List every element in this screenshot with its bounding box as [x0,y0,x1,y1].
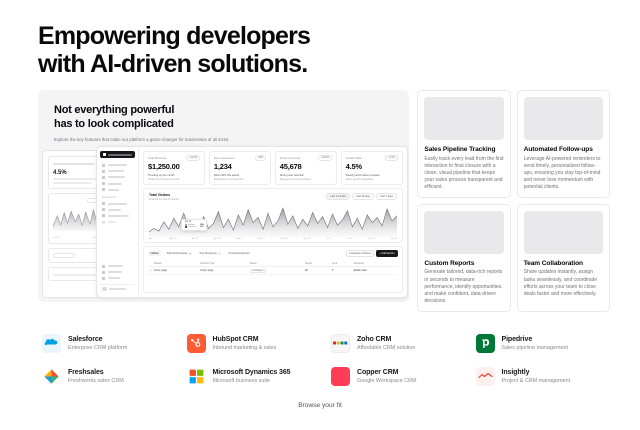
x-tick: Apr 7 [149,238,154,240]
kpi-sub: Visitors for the last 6 months [148,178,200,181]
brand-name [108,154,132,156]
kpi-value: 45,678 [280,162,332,171]
sidebar-item-label [108,221,117,223]
sidebar-item-label [108,203,128,205]
feature-title: Team Collaboration [524,260,603,267]
kpi-card-total-revenue: Total Revenue +12.5% $1,250.00 Trending … [143,151,205,185]
sidebar-item-label [108,183,123,185]
insightly-logo-icon [476,367,495,386]
kpi-card-active-accounts: Active Accounts +12.5% 45,678 Strong use… [275,151,337,185]
kpi-sub: Engagement exceed targets [280,178,332,181]
feature-title: Automated Follow-ups [524,146,603,153]
table-actions: Customize Columns + Add Section [346,250,398,257]
brand-name: Pipedrive [502,336,569,343]
pipedrive-logo-icon [476,334,495,353]
kpi-card-new-customers: New Customers -20% 1,234 Down 20% this p… [209,151,271,185]
brand-item-hubspot-crm[interactable]: HubSpot CRM Inbound marketing & sales [187,334,322,353]
freshsales-logo-icon [42,367,61,386]
zoho-logo-icon [331,334,350,353]
range-last-30-days[interactable]: Last 30 days [352,193,374,200]
brand-tagline: Affordable CRM solution [357,345,415,351]
x-tick: Jun 16 [368,238,375,240]
lifecycle-icon [102,170,105,173]
status-badge: In Process [250,269,266,273]
kpi-label: Growth Rate [346,156,362,160]
dashboard-body: Total Revenue +12.5% $1,250.00 Trending … [139,147,407,297]
x-tick: Apr 21 [192,238,198,240]
cell-limit: 5 [331,267,353,275]
feature-card-custom-reports[interactable]: Custom Reports Generate tailored, data-r… [417,204,510,312]
hubspot-logo-icon [187,334,206,353]
kpi-foot: Steady performance increase [346,174,398,177]
page-title: Empowering developers with AI-driven sol… [38,22,640,78]
sidebar-item-search[interactable] [100,275,135,281]
feature-description: Share updates instantly, assign tasks se… [524,269,603,297]
sidebar-item-label [108,189,119,191]
showcase-title: Not everything powerful has to look comp… [54,104,409,132]
side-card-label [53,163,94,165]
brand-name: Microsoft Dynamics 365 [213,369,291,376]
kpi-badge: +12.5% [318,155,332,161]
showcase-title-line-1: Not everything powerful [54,104,174,116]
feature-cards: Sales Pipeline Tracking Easily track eve… [417,90,610,312]
x-tick: Jun 23 [390,238,397,240]
assistant-icon [102,214,105,217]
sidebar-section-documents: Documents [100,193,135,201]
chart-tooltip: Apr 11 Mobile 289 Desktop 327 [181,219,207,231]
avatar [102,287,107,292]
brand-item-microsoft-dynamics-365[interactable]: Microsoft Dynamics 365 Microsoft busines… [187,367,322,386]
kpi-foot: Down 20% this period [214,174,266,177]
showcase-panel: Not everything powerful has to look comp… [38,90,409,302]
kpi-row: Total Revenue +12.5% $1,250.00 Trending … [143,151,403,185]
x-tick: Jun 9 [347,238,352,240]
range-last-3-months[interactable]: Last 3 months [326,193,350,200]
sidebar-item-label [108,170,124,172]
dashboard-brand[interactable] [100,151,135,158]
brand-item-pipedrive[interactable]: Pipedrive Sales pipeline management [476,334,611,353]
customize-columns-button[interactable]: Customize Columns [346,250,374,257]
tooltip-row-desktop: Desktop 327 [185,226,204,228]
x-tick: Apr 14 [170,238,176,240]
brand-item-zoho-crm[interactable]: Zoho CRM Affordable CRM solution [331,334,466,353]
footer-cta[interactable]: Browse your fit [0,386,640,409]
brand-name: Freshsales [68,369,124,376]
kpi-value: 1,234 [214,162,266,171]
kpi-badge: -20% [255,155,267,161]
brand-item-insightly[interactable]: Insightly Project & CRM management [476,367,611,386]
kpi-value: $1,250.00 [148,162,200,171]
table-tabs: Outline Past Performance3 Key Personnel2… [148,251,252,256]
kpi-card-growth-rate: Growth Rate +4.5% 4.5% Steady performanc… [341,151,403,185]
side-card-sub [53,182,92,184]
sidebar-item-label [108,271,122,273]
kpi-foot: Strong user retention [280,174,332,177]
tooltip-series-name: Desktop [188,226,198,228]
brand-tagline: Enterprise CRM platform [68,345,127,351]
dashboard-mockup-primary: Documents [96,146,408,298]
brand-name: Insightly [502,369,571,376]
feature-card-team-collaboration[interactable]: Team Collaboration Share updates instant… [517,204,610,312]
kpi-label: Active Accounts [280,156,301,160]
brand-item-copper-crm[interactable]: Copper CRM Google Workspace CRM [331,367,466,386]
chart-x-axis: Apr 7 Apr 14 Apr 21 Apr 28 May 5 May 12 … [149,238,397,240]
tab-key-personnel[interactable]: Key Personnel2 [197,251,223,256]
brand-name: Copper CRM [357,369,417,376]
integration-list: Salesforce Enterprise CRM platform HubSp… [0,312,640,386]
legend-swatch-desktop [185,226,187,228]
microsoft-logo-icon [187,367,206,386]
kpi-value: 4.5% [346,162,398,171]
tab-count: 3 [188,253,191,255]
brand-tagline: Google Workspace CRM [357,378,417,384]
tab-outline[interactable]: Outline [148,251,161,256]
kpi-sub: Meets growth projections [346,178,398,181]
sidebar-user-label [109,288,126,290]
content-grid: Not everything powerful has to look comp… [0,78,640,312]
add-section-button[interactable]: + Add Section [376,250,398,257]
range-last-7-days[interactable]: Last 7 days [376,193,397,200]
sidebar-item-label [108,176,125,178]
showcase-subtitle: Explore the key features that make our p… [54,137,409,142]
side-action-a[interactable] [53,253,75,258]
sidebar-item-label [108,265,124,267]
cell-section-type: Cover page [199,267,249,275]
cell-status: In Process [249,267,304,275]
brand-tagline: Project & CRM management [502,378,571,384]
copper-logo-icon [331,367,350,386]
side-tick-0: Jun 10 [53,237,60,239]
chart-subtitle: Total for the last 3 months [149,198,179,201]
visitors-chart-card: Total Visitors Total for the last 3 mont… [143,188,403,243]
headline-line-2: with AI-driven solutions. [38,50,307,78]
x-tick: Apr 28 [214,238,220,240]
kpi-badge: +12.5% [186,155,200,161]
brand-name: HubSpot CRM [213,336,277,343]
sections-table: Header Section Type Status Target Limit … [148,260,398,275]
tab-count: 2 [218,253,221,255]
sidebar-item-label [108,209,122,211]
tab-label: Past Performance [167,252,188,255]
dashboard-sidebar: Documents [97,147,139,297]
kpi-label: New Customers [214,156,235,160]
x-tick: May 12 [258,238,265,240]
feature-thumbnail [524,211,603,254]
showcase-title-line-2: has to look complicated [54,118,174,130]
feature-card-automated-follow-ups[interactable]: Automated Follow-ups Leverage AI-powered… [517,90,610,198]
tab-focus-documents[interactable]: Focus Documents [226,251,252,256]
feature-thumbnail [424,211,503,254]
tab-label: Key Personnel [200,252,217,255]
brand-name: Salesforce [68,336,127,343]
sidebar-spacer [100,225,135,263]
team-icon [102,188,105,191]
brand-tagline: Microsoft business suite [213,378,291,384]
kpi-sub: Acquisition needs attention [214,178,266,181]
sidebar-item-label [108,164,127,166]
x-tick: May 5 [236,238,242,240]
brand-item-freshsales[interactable]: Freshsales Freshworks sales CRM [42,367,177,386]
cell-target: 18 [304,267,331,275]
feature-thumbnail [424,97,503,140]
kpi-foot: Trending up this month [148,174,200,177]
tab-past-performance[interactable]: Past Performance3 [164,251,194,256]
brand-name: Zoho CRM [357,336,415,343]
search-icon [102,277,105,280]
dashboard-icon [102,164,105,167]
library-icon [102,202,105,205]
gear-icon [102,265,105,268]
tooltip-date: Apr 11 [185,221,204,223]
projects-icon [102,182,105,185]
more-icon [102,221,105,224]
feature-description: Leverage AI-powered reminders to send ti… [524,156,603,191]
table-row[interactable]: ⋮ Cover page Cover page In Process 18 5 … [148,267,398,275]
feature-description: Easily track every lead from the first i… [424,156,503,191]
feature-title: Custom Reports [424,260,503,267]
kpi-label: Total Revenue [148,156,167,160]
brand-item-salesforce[interactable]: Salesforce Enterprise CRM platform [42,334,177,353]
brand-tagline: Sales pipeline management [502,345,569,351]
analytics-icon [102,176,105,179]
sidebar-item-label [108,277,120,279]
dashboard-mockup: +4.5% 4.5% [38,146,409,302]
headline-line-1: Empowering developers [38,22,310,50]
sidebar-user[interactable] [100,284,135,294]
x-tick: May 19 [281,238,288,240]
help-icon [102,271,105,274]
salesforce-logo-icon [42,334,61,353]
cell-header: Cover page [153,267,199,275]
hero-section: Empowering developers with AI-driven sol… [0,0,640,78]
feature-thumbnail [524,97,603,140]
brand-mark-icon [103,153,106,156]
x-tick: Jun 2 [326,238,331,240]
chart-plot: Apr 11 Mobile 289 Desktop 327 [149,203,397,237]
brand-tagline: Inbound marketing & sales [213,345,277,351]
sections-table-card: Outline Past Performance3 Key Personnel2… [143,246,403,293]
sidebar-item-label [108,215,130,217]
kpi-badge: +4.5% [385,155,398,161]
feature-title: Sales Pipeline Tracking [424,146,503,153]
feature-card-sales-pipeline-tracking[interactable]: Sales Pipeline Tracking Easily track eve… [417,90,510,198]
tooltip-series-value: 327 [200,226,204,228]
x-tick: May 26 [303,238,310,240]
reports-icon [102,208,105,211]
feature-description: Generate tailored, data-rich reports in … [424,269,503,304]
cell-reviewer: Eddie Lake [353,267,398,275]
chart-range-group: Last 3 months Last 30 days Last 7 days [326,193,397,200]
chart-title: Total Visitors [149,193,179,197]
brand-tagline: Freshworks sales CRM [68,378,124,384]
